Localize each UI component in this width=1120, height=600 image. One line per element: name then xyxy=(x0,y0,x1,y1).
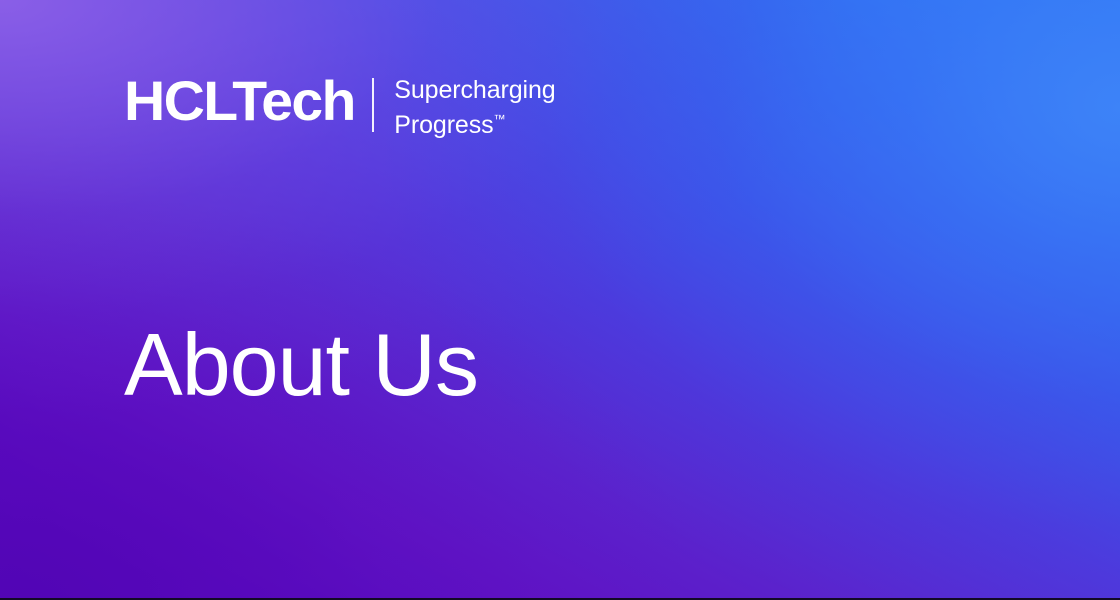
tagline-line-1: Supercharging xyxy=(394,76,555,105)
tagline-line-2: Progress™ xyxy=(394,105,555,140)
trademark-symbol: ™ xyxy=(494,112,506,126)
brand-wordmark: HCLTech xyxy=(124,70,355,132)
page-title: About Us xyxy=(124,317,478,413)
brand-tagline: Supercharging Progress™ xyxy=(394,76,555,140)
tagline-line-2-text: Progress xyxy=(394,111,493,139)
hcltech-logo: HCLTech Supercharging Progress™ xyxy=(124,70,556,140)
logo-divider xyxy=(372,78,374,132)
title-slide: HCLTech Supercharging Progress™ About Us xyxy=(0,0,1120,600)
